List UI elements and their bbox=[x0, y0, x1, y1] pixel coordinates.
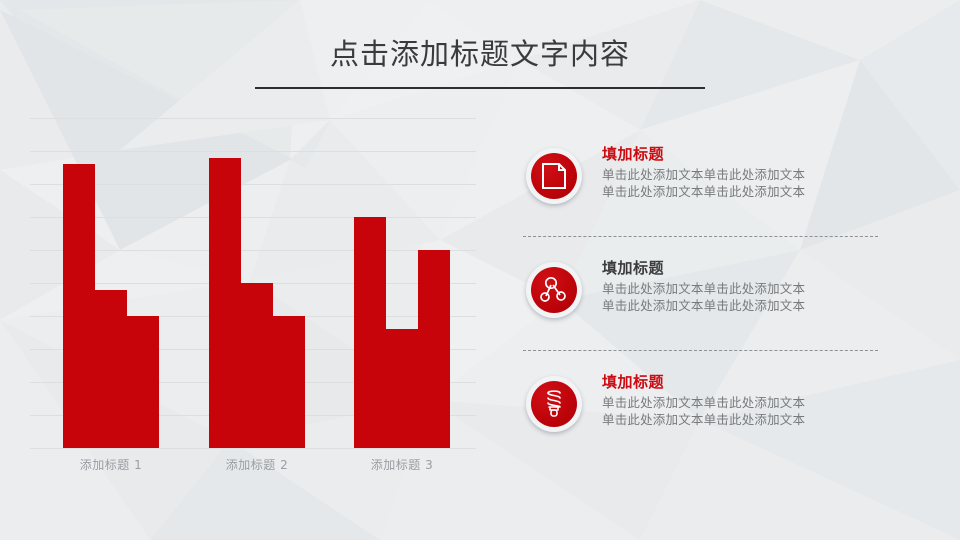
chart-bar bbox=[354, 217, 386, 448]
chart-bar bbox=[273, 316, 305, 448]
feature-divider bbox=[523, 350, 878, 351]
chart-bar bbox=[418, 250, 450, 448]
chart-x-axis-labels: 添加标题 1添加标题 2添加标题 3 bbox=[30, 456, 480, 480]
title-block: 点击添加标题文字内容 bbox=[0, 34, 960, 74]
feature-body-line: 单击此处添加文本单击此处添加文本 bbox=[602, 183, 920, 200]
feature-text-block: 填加标题单击此处添加文本单击此处添加文本单击此处添加文本单击此处添加文本 bbox=[602, 144, 920, 200]
bar-chart: 添加标题 1添加标题 2添加标题 3 bbox=[30, 118, 480, 483]
document-icon-badge[interactable] bbox=[526, 148, 582, 204]
feature-divider bbox=[523, 236, 878, 237]
share-network-icon bbox=[531, 267, 577, 313]
feature-text-block: 填加标题单击此处添加文本单击此处添加文本单击此处添加文本单击此处添加文本 bbox=[602, 372, 920, 428]
feature-item[interactable]: 填加标题单击此处添加文本单击此处添加文本单击此处添加文本单击此处添加文本 bbox=[520, 256, 920, 348]
feature-title: 填加标题 bbox=[602, 372, 920, 393]
feature-text-block: 填加标题单击此处添加文本单击此处添加文本单击此处添加文本单击此处添加文本 bbox=[602, 258, 920, 314]
chart-bar bbox=[95, 290, 127, 448]
x-axis-label: 添加标题 2 bbox=[193, 456, 321, 473]
cfl-bulb-icon-badge[interactable] bbox=[526, 376, 582, 432]
document-icon bbox=[531, 153, 577, 199]
feature-item[interactable]: 填加标题单击此处添加文本单击此处添加文本单击此处添加文本单击此处添加文本 bbox=[520, 142, 920, 234]
feature-body-line: 单击此处添加文本单击此处添加文本 bbox=[602, 411, 920, 428]
slide-canvas: 点击添加标题文字内容 添加标题 1添加标题 2添加标题 3 填加标题单击此处添加… bbox=[0, 0, 960, 540]
x-axis-label: 添加标题 1 bbox=[47, 456, 175, 473]
feature-body-line: 单击此处添加文本单击此处添加文本 bbox=[602, 280, 920, 297]
x-axis-label: 添加标题 3 bbox=[338, 456, 466, 473]
chart-bar bbox=[127, 316, 159, 448]
feature-list: 填加标题单击此处添加文本单击此处添加文本单击此处添加文本单击此处添加文本填加标题… bbox=[520, 142, 920, 462]
cfl-bulb-icon bbox=[531, 381, 577, 427]
page-title: 点击添加标题文字内容 bbox=[0, 34, 960, 74]
feature-body-line: 单击此处添加文本单击此处添加文本 bbox=[602, 297, 920, 314]
feature-title: 填加标题 bbox=[602, 258, 920, 279]
share-network-icon-badge[interactable] bbox=[526, 262, 582, 318]
title-underline-rule bbox=[255, 87, 705, 89]
chart-bar bbox=[386, 329, 418, 448]
feature-item[interactable]: 填加标题单击此处添加文本单击此处添加文本单击此处添加文本单击此处添加文本 bbox=[520, 370, 920, 462]
feature-body-line: 单击此处添加文本单击此处添加文本 bbox=[602, 166, 920, 183]
chart-bar bbox=[209, 158, 241, 448]
chart-bar bbox=[63, 164, 95, 448]
feature-title: 填加标题 bbox=[602, 144, 920, 165]
chart-bar bbox=[241, 283, 273, 448]
gridline bbox=[30, 448, 476, 449]
feature-body-line: 单击此处添加文本单击此处添加文本 bbox=[602, 394, 920, 411]
chart-plot-area bbox=[30, 118, 480, 448]
